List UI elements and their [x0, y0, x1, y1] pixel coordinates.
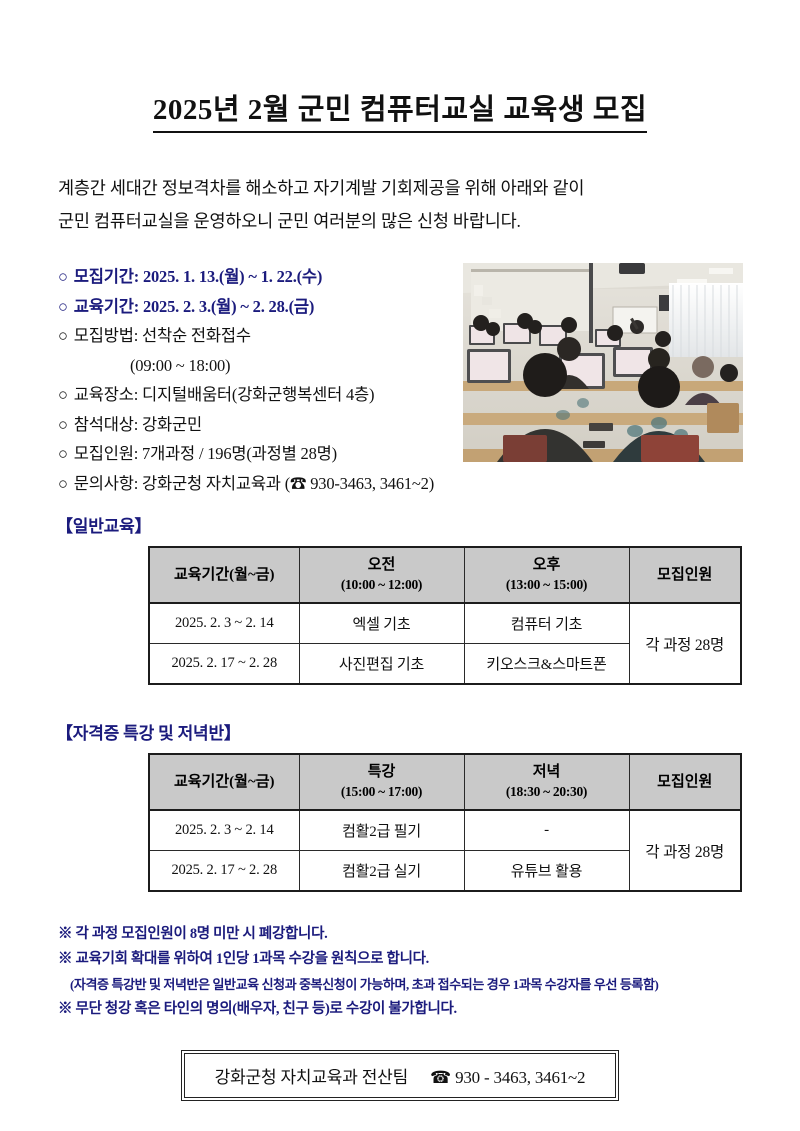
col-header-capacity: 모집인원 [629, 547, 741, 603]
note-line-3: (자격증 특강반 및 저녁반은 일반교육 신청과 중복신청이 가능하며, 초과 … [58, 972, 748, 997]
cell-afternoon: 키오스크&스마트폰 [464, 644, 629, 685]
cell-special: 컴활2급 실기 [299, 851, 464, 892]
label-inquiry: 문의사항: [74, 474, 138, 493]
list-item-recruit-period: ○모집기간: 2025. 1. 13.(월) ~ 1. 22.(수) [58, 262, 478, 292]
label-education-period: 교육기간: [74, 297, 139, 316]
table-row: 2025. 2. 3 ~ 2. 14 엑셀 기초 컴퓨터 기초 각 과정 28명 [149, 603, 741, 644]
bullet-circle-icon: ○ [58, 474, 68, 493]
cell-special: 컴활2급 필기 [299, 810, 464, 851]
col-header-afternoon: 오후 (13:00 ~ 15:00) [464, 547, 629, 603]
recruit-method-hours: (09:00 ~ 18:00) [58, 351, 478, 381]
classroom-photo [463, 263, 743, 462]
intro-line-1: 계층간 세대간 정보격차를 해소하고 자기계발 기회제공을 위해 아래와 같이 [58, 172, 698, 205]
cell-capacity: 각 과정 28명 [629, 810, 741, 891]
label-recruit-period: 모집기간: [74, 267, 139, 286]
table-header-row: 교육기간(월~금) 오전 (10:00 ~ 12:00) 오후 (13:00 ~… [149, 547, 741, 603]
cell-evening: 유튜브 활용 [464, 851, 629, 892]
col-header-period: 교육기간(월~금) [149, 754, 299, 810]
list-item-inquiry: ○문의사항: 강화군청 자치교육과 (☎ 930-3463, 3461~2) [58, 469, 478, 499]
intro-paragraph: 계층간 세대간 정보격차를 해소하고 자기계발 기회제공을 위해 아래와 같이 … [58, 172, 698, 238]
footer-organization: 강화군청 자치교육과 전산팀 [215, 1068, 408, 1087]
notes-section: ※ 각 과정 모집인원이 8명 미만 시 폐강합니다. ※ 교육기회 확대를 위… [58, 922, 748, 1022]
section-heading-general: 【일반교육】 [56, 512, 800, 537]
footer-phone: 930 - 3463, 3461~2 [455, 1068, 585, 1087]
intro-line-2: 군민 컴퓨터교실을 운영하오니 군민 여러분의 많은 신청 바랍니다. [58, 205, 698, 238]
value-recruit-method: 선착순 전화접수 [142, 326, 251, 345]
note-line-1: ※ 각 과정 모집인원이 8명 미만 시 폐강합니다. [58, 922, 748, 947]
document-page: 2025년 2월 군민 컴퓨터교실 교육생 모집 계층간 세대간 정보격차를 해… [0, 0, 800, 1131]
table-row: 2025. 2. 3 ~ 2. 14 컴활2급 필기 - 각 과정 28명 [149, 810, 741, 851]
table-header-row: 교육기간(월~금) 특강 (15:00 ~ 17:00) 저녁 (18:30 ~… [149, 754, 741, 810]
classroom-photo-image [463, 263, 743, 462]
value-education-period: 2025. 2. 3.(월) ~ 2. 28.(금) [143, 297, 314, 316]
footer-contact: 강화군청 자치교육과 전산팀☎ 930 - 3463, 3461~2 [0, 1050, 800, 1101]
cell-period: 2025. 2. 3 ~ 2. 14 [149, 810, 299, 851]
schedule-table-general: 교육기간(월~금) 오전 (10:00 ~ 12:00) 오후 (13:00 ~… [148, 546, 742, 685]
details-list: ○모집기간: 2025. 1. 13.(월) ~ 1. 22.(수) ○교육기간… [58, 262, 478, 498]
details-and-photo: ○모집기간: 2025. 1. 13.(월) ~ 1. 22.(수) ○교육기간… [0, 262, 800, 510]
bullet-circle-icon: ○ [58, 297, 68, 316]
list-item-location: ○교육장소: 디지털배움터(강화군행복센터 4층) [58, 380, 478, 410]
cell-evening: - [464, 810, 629, 851]
bullet-circle-icon: ○ [58, 326, 68, 345]
footer-box-inner: 강화군청 자치교육과 전산팀☎ 930 - 3463, 3461~2 [184, 1053, 617, 1098]
list-item-capacity: ○모집인원: 7개과정 / 196명(과정별 28명) [58, 439, 478, 469]
bullet-circle-icon: ○ [58, 267, 68, 286]
note-line-4: ※ 무단 청강 혹은 타인의 명의(배우자, 친구 등)로 수강이 불가합니다. [58, 997, 748, 1022]
col-header-morning: 오전 (10:00 ~ 12:00) [299, 547, 464, 603]
cell-capacity: 각 과정 28명 [629, 603, 741, 684]
label-recruit-method: 모집방법: [74, 326, 138, 345]
page-title-text: 2025년 2월 군민 컴퓨터교실 교육생 모집 [153, 94, 647, 133]
label-capacity: 모집인원: [74, 444, 138, 463]
cell-period: 2025. 2. 3 ~ 2. 14 [149, 603, 299, 644]
col-header-period: 교육기간(월~금) [149, 547, 299, 603]
col-header-capacity: 모집인원 [629, 754, 741, 810]
page-title: 2025년 2월 군민 컴퓨터교실 교육생 모집 [0, 0, 800, 128]
cell-period: 2025. 2. 17 ~ 2. 28 [149, 851, 299, 892]
schedule-table-certificate: 교육기간(월~금) 특강 (15:00 ~ 17:00) 저녁 (18:30 ~… [148, 753, 742, 892]
value-recruit-period: 2025. 1. 13.(월) ~ 1. 22.(수) [143, 267, 322, 286]
footer-box-outer: 강화군청 자치교육과 전산팀☎ 930 - 3463, 3461~2 [181, 1050, 620, 1101]
cell-period: 2025. 2. 17 ~ 2. 28 [149, 644, 299, 685]
telephone-icon: ☎ [430, 1068, 451, 1087]
cell-morning: 엑셀 기초 [299, 603, 464, 644]
label-audience: 참석대상: [74, 415, 138, 434]
cell-afternoon: 컴퓨터 기초 [464, 603, 629, 644]
value-inquiry: 강화군청 자치교육과 (☎ 930-3463, 3461~2) [142, 474, 434, 493]
list-item-audience: ○참석대상: 강화군민 [58, 410, 478, 440]
bullet-circle-icon: ○ [58, 444, 68, 463]
label-location: 교육장소: [74, 385, 138, 404]
value-audience: 강화군민 [142, 415, 202, 434]
list-item-education-period: ○교육기간: 2025. 2. 3.(월) ~ 2. 28.(금) [58, 292, 478, 322]
list-item-recruit-method: ○모집방법: 선착순 전화접수 [58, 321, 478, 351]
note-line-2: ※ 교육기회 확대를 위하여 1인당 1과목 수강을 원칙으로 합니다. [58, 947, 748, 972]
section-heading-certificate: 【자격증 특강 및 저녁반】 [56, 719, 800, 744]
value-location: 디지털배움터(강화군행복센터 4층) [142, 385, 374, 404]
bullet-circle-icon: ○ [58, 385, 68, 404]
value-capacity: 7개과정 / 196명(과정별 28명) [142, 444, 337, 463]
col-header-special: 특강 (15:00 ~ 17:00) [299, 754, 464, 810]
col-header-evening: 저녁 (18:30 ~ 20:30) [464, 754, 629, 810]
cell-morning: 사진편집 기초 [299, 644, 464, 685]
bullet-circle-icon: ○ [58, 415, 68, 434]
